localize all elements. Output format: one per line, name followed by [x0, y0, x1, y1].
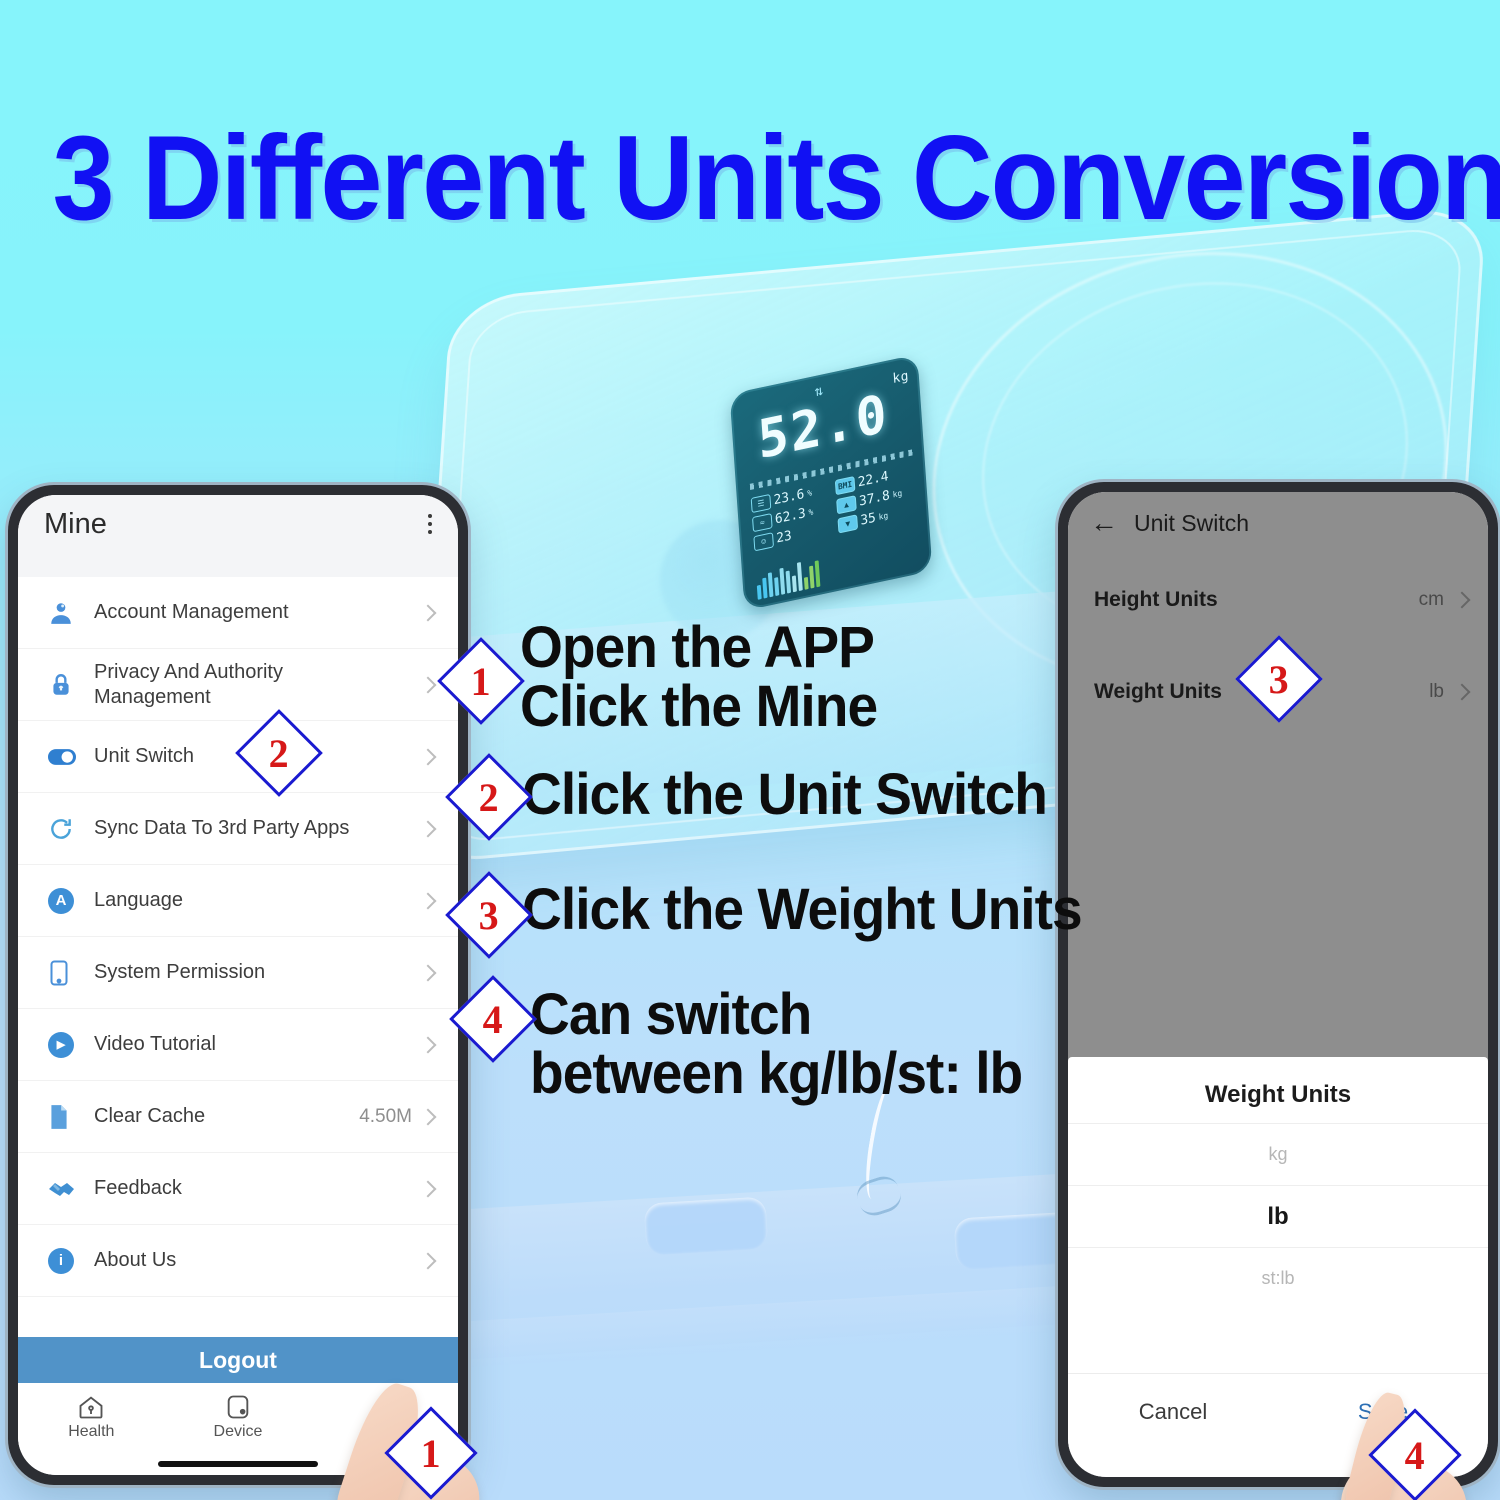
muscle-icon: ▲ [836, 495, 857, 514]
page-title-unit-switch: Unit Switch [1134, 510, 1249, 537]
tab-health[interactable]: Health [18, 1391, 165, 1441]
step-2-text: Click the Unit Switch [522, 765, 1047, 824]
weight-units-picker: Weight Units kg lb st:lb Cancel Save [1068, 1057, 1488, 1477]
file-icon [48, 1104, 88, 1130]
chevron-right-icon [1454, 684, 1471, 701]
chevron-right-icon [420, 604, 437, 621]
menu-item-privacy-authority-management[interactable]: Privacy And Authority Management [18, 649, 458, 721]
bone-mass-icon: ▼ [837, 514, 858, 533]
row-label: Weight Units [1094, 680, 1222, 704]
chevron-right-icon [420, 1180, 437, 1197]
scale-lcd-display: ⇅ kg 52.0 ☰ 23.6 % BMI 22.4 ≈ 62.3 % ▲ 3… [730, 354, 933, 611]
phone-right-unit-switch-screen: ← Unit Switch Height Units cm Weight Uni… [1058, 482, 1498, 1487]
badge-number: 1 [421, 1430, 441, 1477]
page-title-mine: Mine [44, 508, 422, 541]
lcd-metric-suffix: % [808, 507, 813, 517]
menu-item-value: 4.50M [359, 1106, 422, 1128]
logout-button[interactable]: Logout [18, 1337, 458, 1383]
kebab-menu-icon[interactable] [422, 508, 438, 540]
language-icon: A [48, 888, 88, 914]
lcd-metric-suffix: % [807, 488, 812, 498]
header-spacer [18, 553, 458, 577]
play-circle-icon-glyph: ▶ [48, 1032, 74, 1058]
badge-number: 2 [269, 730, 289, 777]
body-fat-icon: ☰ [751, 494, 772, 513]
badge-number: 1 [471, 658, 491, 705]
handshake-icon [48, 1178, 88, 1200]
menu-item-feedback[interactable]: Feedback [18, 1153, 458, 1225]
chevron-right-icon [420, 1036, 437, 1053]
sync-icon [48, 816, 88, 842]
step-4-text: Can switch between kg/lb/st: lb [530, 985, 1022, 1103]
picker-option-st-lb[interactable]: st:lb [1068, 1247, 1488, 1309]
picker-option-lb[interactable]: lb [1068, 1185, 1488, 1247]
chevron-right-icon [420, 820, 437, 837]
home-icon [18, 1391, 165, 1423]
picker-title: Weight Units [1068, 1057, 1488, 1123]
badge-number: 2 [479, 774, 499, 821]
toggle-icon [48, 748, 88, 766]
back-arrow-icon[interactable]: ← [1090, 509, 1118, 537]
scale-foot-left [644, 1196, 769, 1255]
menu-item-label: System Permission [88, 960, 412, 985]
step-3-text: Click the Weight Units [522, 880, 1082, 939]
chevron-right-icon [420, 676, 437, 693]
chevron-right-icon [420, 892, 437, 909]
chevron-right-icon [420, 1252, 437, 1269]
info-icon: i [48, 1248, 88, 1274]
lcd-metric-suffix: kg [878, 511, 888, 522]
menu-item-label: Feedback [88, 1176, 412, 1201]
lcd-metric-value: 22.4 [857, 469, 889, 491]
chevron-right-icon [1454, 592, 1471, 609]
menu-item-language[interactable]: A Language [18, 865, 458, 937]
menu-item-account-management[interactable]: Account Management [18, 577, 458, 649]
menu-item-label: About Us [88, 1248, 412, 1273]
badge-number: 4 [1405, 1432, 1425, 1479]
lcd-metric-value: 62.3 [775, 506, 807, 528]
phone-left-mine-screen: Mine Account Management Privacy And Auth… [8, 485, 468, 1485]
menu-item-label: Privacy And Authority Management [88, 660, 412, 710]
cancel-button[interactable]: Cancel [1068, 1399, 1278, 1425]
chevron-right-icon [420, 964, 437, 981]
user-icon [48, 600, 88, 626]
menu-item-label: Account Management [88, 600, 412, 625]
menu-item-sync-data-3rd-party[interactable]: Sync Data To 3rd Party Apps [18, 793, 458, 865]
bmi-icon: BMI [835, 476, 856, 495]
settings-menu-list: Account Management Privacy And Authority… [18, 577, 458, 1297]
lcd-metric-value: 37.8 [859, 488, 891, 510]
lcd-metric-suffix: kg [892, 488, 902, 499]
badge-number: 4 [483, 996, 503, 1043]
home-indicator [158, 1461, 318, 1467]
menu-item-label: Video Tutorial [88, 1032, 412, 1057]
lcd-metric-value: 23 [776, 528, 792, 546]
device-icon [165, 1391, 312, 1423]
menu-item-unit-switch[interactable]: Unit Switch [18, 721, 458, 793]
tab-device[interactable]: Device [165, 1391, 312, 1441]
badge-number: 3 [1269, 656, 1289, 703]
row-label: Height Units [1094, 588, 1218, 612]
menu-item-about-us[interactable]: i About Us [18, 1225, 458, 1297]
menu-item-label: Language [88, 888, 412, 913]
menu-item-clear-cache[interactable]: Clear Cache 4.50M [18, 1081, 458, 1153]
menu-item-video-tutorial[interactable]: ▶ Video Tutorial [18, 1009, 458, 1081]
language-icon-glyph: A [48, 888, 74, 914]
lcd-metric-value: 35 [860, 510, 876, 528]
info-icon-glyph: i [48, 1248, 74, 1274]
tab-label: Device [165, 1423, 312, 1441]
lcd-metric-value: 23.6 [773, 487, 805, 509]
mine-header: Mine [18, 495, 458, 553]
screen-mine: Mine Account Management Privacy And Auth… [18, 495, 458, 1475]
lcd-level-bars [756, 556, 821, 600]
lcd-metrics-grid: ☰ 23.6 % BMI 22.4 ≈ 62.3 % ▲ 37.8 kg ☺ 2… [751, 463, 919, 551]
menu-item-label: Clear Cache [88, 1104, 359, 1129]
chevron-right-icon [420, 1108, 437, 1125]
row-value: cm [1419, 589, 1456, 611]
badge-number: 3 [479, 892, 499, 939]
picker-option-list[interactable]: kg lb st:lb [1068, 1123, 1488, 1373]
unit-switch-header: ← Unit Switch [1068, 492, 1488, 554]
body-age-icon: ☺ [753, 532, 774, 551]
chevron-right-icon [420, 748, 437, 765]
page-title: 3 Different Units Conversion [53, 118, 1448, 238]
menu-item-label: Sync Data To 3rd Party Apps [88, 816, 412, 841]
row-value: lb [1429, 681, 1456, 703]
step-1-text: Open the APP Click the Mine [520, 618, 877, 736]
tab-label: Health [18, 1423, 165, 1441]
phone-icon [48, 960, 88, 986]
menu-item-system-permission[interactable]: System Permission [18, 937, 458, 1009]
lock-icon [48, 672, 88, 698]
play-circle-icon: ▶ [48, 1032, 88, 1058]
picker-option-kg[interactable]: kg [1068, 1123, 1488, 1185]
body-water-icon: ≈ [752, 513, 773, 532]
row-height-units[interactable]: Height Units cm [1068, 554, 1488, 646]
